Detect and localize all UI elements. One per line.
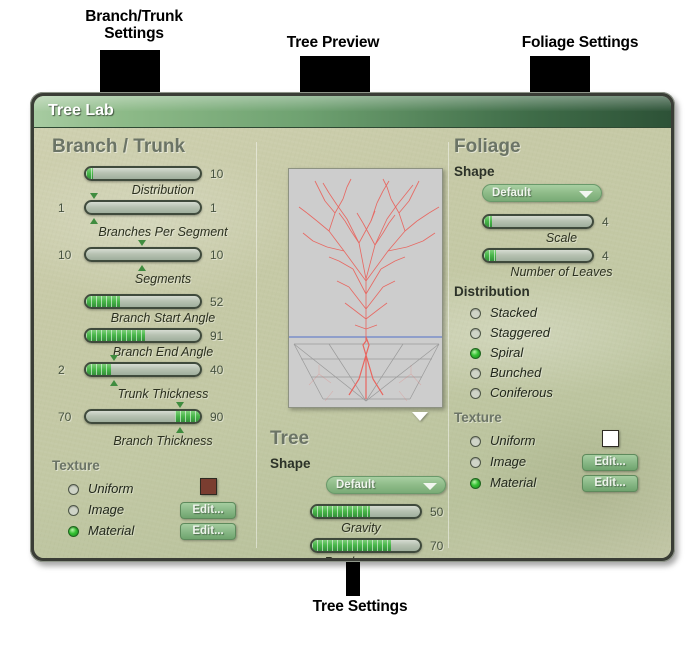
radio-icon xyxy=(68,505,79,516)
slider-label: Branches Per Segment xyxy=(52,225,274,239)
foliage-panel: Foliage Shape Default 4Scale4Number of L… xyxy=(454,136,669,496)
callout-branch-trunk: Branch/TrunkSettings xyxy=(64,8,204,43)
branch-trunk-heading: Branch / Trunk xyxy=(52,136,274,158)
slider-fill xyxy=(86,330,145,341)
slider-min-value: 70 xyxy=(58,410,71,424)
callout-tree-preview-text: Tree Preview xyxy=(287,34,379,51)
slider-label: Gravity xyxy=(270,521,452,535)
slider-fill xyxy=(86,168,93,179)
slider-lower-marker[interactable] xyxy=(90,218,98,224)
slider-label: Number of Leaves xyxy=(454,265,669,279)
foliage-heading: Foliage xyxy=(454,136,669,158)
chevron-down-icon xyxy=(579,191,593,198)
tree-shape-dropdown[interactable]: Default xyxy=(326,476,446,494)
slider-label: Trunk Thickness xyxy=(52,387,274,401)
slider-fill xyxy=(484,250,496,261)
slider-max-value: 90 xyxy=(210,410,223,424)
tree-shape-heading: Shape xyxy=(270,456,452,471)
slider-row: 52Branch Start Angle xyxy=(52,292,274,326)
slider-upper-marker[interactable] xyxy=(138,240,146,246)
radio-label: Image xyxy=(88,502,124,517)
slider-max-value: 40 xyxy=(210,363,223,377)
radio-label: Spiral xyxy=(490,345,523,360)
slider-label: Randomness xyxy=(270,555,452,558)
radio-label: Uniform xyxy=(490,433,536,448)
radio-icon xyxy=(470,328,481,339)
window-titlebar: Tree Lab xyxy=(34,96,671,128)
radio-icon xyxy=(470,368,481,379)
slider-row: 4Number of Leaves xyxy=(454,246,669,280)
foliage-shape-value: Default xyxy=(492,187,531,199)
slider-lower-marker[interactable] xyxy=(110,380,118,386)
slider-lower-marker[interactable] xyxy=(138,265,146,271)
radio-option-bunched[interactable]: Bunched xyxy=(454,364,669,384)
branch-texture-color-swatch[interactable] xyxy=(200,478,217,495)
slider-max-value: 52 xyxy=(210,295,223,309)
radio-option-stacked[interactable]: Stacked xyxy=(454,304,669,324)
slider-max-value: 10 xyxy=(210,167,223,181)
tree-preview-viewport[interactable] xyxy=(288,168,443,408)
radio-icon xyxy=(470,457,481,468)
radio-label: Material xyxy=(490,475,536,490)
radio-option-image[interactable]: Image xyxy=(52,501,274,521)
callout-tree-settings-text: Tree Settings xyxy=(313,598,408,615)
foliage-shape-dropdown[interactable]: Default xyxy=(482,184,602,202)
radio-label: Staggered xyxy=(490,325,550,340)
slider-max-value: 50 xyxy=(430,505,443,519)
radio-icon xyxy=(470,308,481,319)
radio-label: Stacked xyxy=(490,305,537,320)
radio-label: Material xyxy=(88,523,134,538)
radio-option-staggered[interactable]: Staggered xyxy=(454,324,669,344)
radio-label: Image xyxy=(490,454,526,469)
titlebar-sheen xyxy=(34,96,671,111)
slider-min-value: 10 xyxy=(58,248,71,262)
radio-icon xyxy=(470,478,481,489)
tree-lab-window: Tree Lab Branch / Trunk 10Distribution11… xyxy=(30,92,675,562)
slider-max-value: 70 xyxy=(430,539,443,553)
tree-slider-list: 50Gravity70Randomness xyxy=(270,502,452,558)
slider-track[interactable] xyxy=(84,247,202,262)
slider-max-value: 4 xyxy=(602,249,609,263)
radio-option-uniform[interactable]: Uniform xyxy=(454,432,669,452)
foliage-slider-list: 4Scale4Number of Leaves xyxy=(454,212,669,280)
branch-trunk-panel: Branch / Trunk 10Distribution11Branches … xyxy=(52,136,274,544)
window-title: Tree Lab xyxy=(48,102,114,120)
slider-row: 9070Branch Thickness xyxy=(52,407,274,454)
slider-fill xyxy=(86,364,111,375)
slider-lower-marker[interactable] xyxy=(176,427,184,433)
radio-option-coniferous[interactable]: Coniferous xyxy=(454,384,669,404)
callout-tree-preview: Tree Preview xyxy=(258,34,408,51)
radio-icon xyxy=(470,436,481,447)
foliage-texture-heading: Texture xyxy=(454,410,669,425)
branch-texture-options: UniformImageMaterialEdit...Edit... xyxy=(52,478,274,544)
tree-preview-render xyxy=(289,169,443,408)
slider-label: Branch Thickness xyxy=(52,434,274,448)
radio-icon xyxy=(68,526,79,537)
branch-image-edit-button[interactable]: Edit... xyxy=(180,502,236,519)
slider-row: 50Gravity xyxy=(270,502,452,536)
radio-label: Bunched xyxy=(490,365,541,380)
slider-row: 402Trunk Thickness xyxy=(52,360,274,407)
foliage-texture-color-swatch[interactable] xyxy=(602,430,619,447)
callout-foliage-text: Foliage Settings xyxy=(522,34,639,51)
foliage-image-edit-button[interactable]: Edit... xyxy=(582,454,638,471)
slider-row: 70Randomness xyxy=(270,536,452,558)
slider-track[interactable] xyxy=(84,166,202,181)
slider-track[interactable] xyxy=(310,538,422,553)
window-body: Branch / Trunk 10Distribution11Branches … xyxy=(34,128,671,558)
radio-icon xyxy=(470,388,481,399)
callout-tree-settings: Tree Settings xyxy=(280,598,440,615)
slider-track[interactable] xyxy=(310,504,422,519)
radio-icon xyxy=(68,484,79,495)
foliage-material-edit-button[interactable]: Edit... xyxy=(582,475,638,492)
slider-row: 4Scale xyxy=(454,212,669,246)
foliage-texture-options: UniformImageMaterialEdit...Edit... xyxy=(454,430,669,496)
slider-track[interactable] xyxy=(84,200,202,215)
slider-max-value: 10 xyxy=(210,248,223,262)
slider-label: Distribution xyxy=(52,183,274,197)
slider-fill xyxy=(86,296,120,307)
slider-max-value: 1 xyxy=(210,201,217,215)
slider-upper-marker[interactable] xyxy=(176,402,184,408)
leader-line-branch-trunk xyxy=(100,50,160,98)
slider-fill xyxy=(312,506,370,517)
slider-track[interactable] xyxy=(482,248,594,263)
chevron-down-icon xyxy=(423,483,437,490)
slider-label: Scale xyxy=(454,231,669,245)
slider-track[interactable] xyxy=(84,294,202,309)
tree-heading: Tree xyxy=(270,428,452,450)
foliage-shape-heading: Shape xyxy=(454,164,669,179)
slider-track[interactable] xyxy=(84,362,202,377)
slider-upper-marker[interactable] xyxy=(110,355,118,361)
radio-icon xyxy=(470,348,481,359)
foliage-distribution-heading: Distribution xyxy=(454,284,669,299)
slider-fill xyxy=(175,411,200,422)
slider-track[interactable] xyxy=(84,409,202,424)
slider-track[interactable] xyxy=(84,328,202,343)
radio-option-material[interactable]: Material xyxy=(52,522,274,542)
slider-min-value: 2 xyxy=(58,363,65,377)
branch-texture-heading: Texture xyxy=(52,458,274,473)
foliage-distribution-options: StackedStaggeredSpiralBunchedConiferous xyxy=(454,304,669,404)
preview-collapse-arrow-icon[interactable] xyxy=(412,412,428,421)
slider-row: 10Distribution xyxy=(52,164,274,198)
callout-foliage: Foliage Settings xyxy=(500,34,660,51)
slider-row: 91Branch End Angle xyxy=(52,326,274,360)
branch-material-edit-button[interactable]: Edit... xyxy=(180,523,236,540)
radio-option-uniform[interactable]: Uniform xyxy=(52,480,274,500)
slider-upper-marker[interactable] xyxy=(90,193,98,199)
tree-shape-value: Default xyxy=(336,479,375,491)
slider-track[interactable] xyxy=(482,214,594,229)
slider-row: 11Branches Per Segment xyxy=(52,198,274,245)
slider-label: Segments xyxy=(52,272,274,286)
slider-fill xyxy=(312,540,391,551)
radio-label: Uniform xyxy=(88,481,134,496)
callout-branch-trunk-text: Branch/TrunkSettings xyxy=(85,8,183,42)
slider-row: 1010Segments xyxy=(52,245,274,292)
slider-min-value: 1 xyxy=(58,201,65,215)
radio-option-spiral[interactable]: Spiral xyxy=(454,344,669,364)
slider-label: Branch End Angle xyxy=(52,345,274,359)
slider-label: Branch Start Angle xyxy=(52,311,274,325)
radio-label: Coniferous xyxy=(490,385,553,400)
slider-max-value: 91 xyxy=(210,329,223,343)
slider-max-value: 4 xyxy=(602,215,609,229)
slider-fill xyxy=(484,216,492,227)
branch-trunk-slider-list: 10Distribution11Branches Per Segment1010… xyxy=(52,164,274,454)
